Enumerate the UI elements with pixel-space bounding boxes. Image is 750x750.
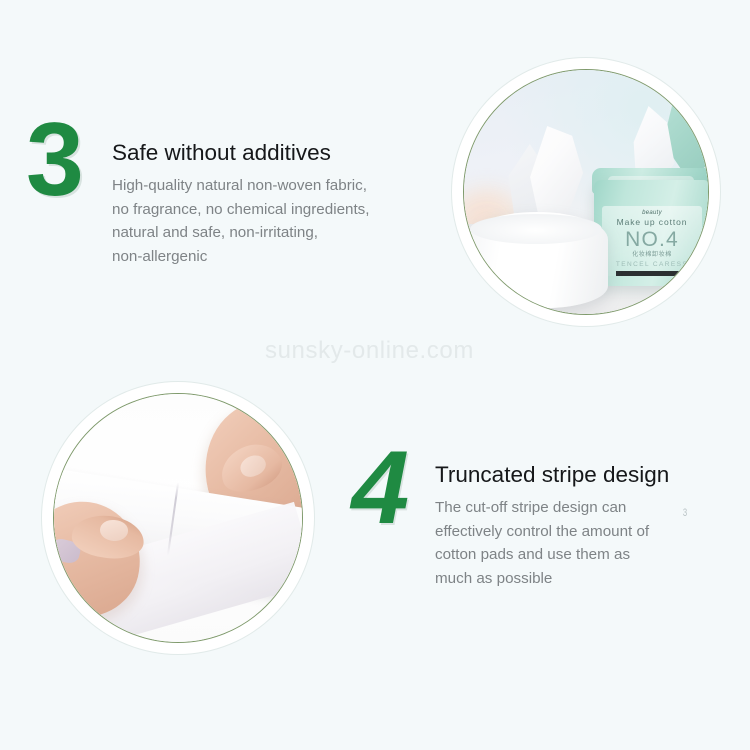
watermark: sunsky-online.com xyxy=(265,337,474,365)
feature-body-3-line-1: High-quality natural non-woven fabric, xyxy=(112,174,370,198)
photo-inner-ring: beauty Make up cotton NO.4 化妆棉卸妆棉 TENCEL… xyxy=(463,69,709,315)
feature-body-3-line-2: no fragrance, no chemical ingredients, xyxy=(112,198,370,222)
photo-inner-ring xyxy=(53,393,303,643)
feature-body-4-line-3: cotton pads and use them as xyxy=(435,543,649,567)
scene-dispenser: beauty Make up cotton NO.4 化妆棉卸妆棉 TENCEL… xyxy=(464,70,708,314)
feature-body-3: High-quality natural non-woven fabric, n… xyxy=(112,174,370,268)
label-black-bar xyxy=(616,271,688,276)
feature-body-4-line-4: much as possible xyxy=(435,567,649,591)
feature-heading-4: Truncated stripe design xyxy=(435,461,669,488)
label-script-text: beauty xyxy=(602,209,702,217)
label-subtitle-text: TENCEL CARESS xyxy=(602,260,702,269)
feature-body-4-line-2: effectively control the amount of xyxy=(435,520,649,544)
scene-tearing-strip xyxy=(54,394,302,642)
label-number-text: NO.4 xyxy=(602,228,702,251)
feature-body-3-line-3: natural and safe, non-irritating, xyxy=(112,221,370,245)
scan-artifact-mark: 3 xyxy=(683,508,687,519)
dispenser-label: beauty Make up cotton NO.4 化妆棉卸妆棉 TENCEL… xyxy=(602,206,702,276)
feature-body-3-line-4: non-allergenic xyxy=(112,245,370,269)
product-photo-tearing-strip xyxy=(42,382,314,654)
label-chinese-text: 化妆棉卸妆棉 xyxy=(602,251,702,260)
feature-number-3: 3 xyxy=(26,108,82,212)
cotton-roll xyxy=(466,212,608,308)
feature-number-4: 4 xyxy=(342,436,418,540)
label-title-text: Make up cotton xyxy=(602,217,702,228)
feature-body-4: The cut-off stripe design can effectivel… xyxy=(435,496,649,590)
product-photo-dispenser: beauty Make up cotton NO.4 化妆棉卸妆棉 TENCEL… xyxy=(452,58,720,326)
feature-body-4-line-1: The cut-off stripe design can xyxy=(435,496,649,520)
feature-heading-3: Safe without additives xyxy=(112,139,331,166)
product-feature-panel: beauty Make up cotton NO.4 化妆棉卸妆棉 TENCEL… xyxy=(0,0,750,750)
